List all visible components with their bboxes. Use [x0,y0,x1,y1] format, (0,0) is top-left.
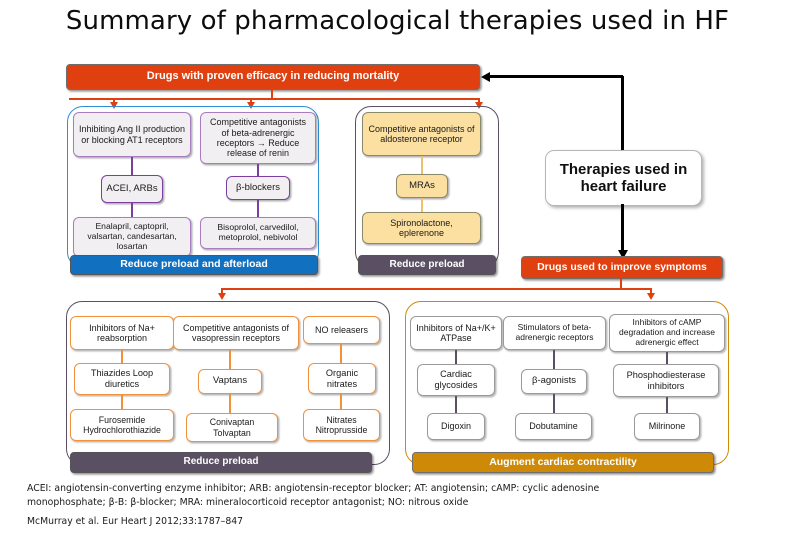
node-mechanism-beta-blockers[interactable]: Competitive antagonists of beta-adrenerg… [200,112,316,164]
node-mechanism-beta-agonists[interactable]: Stimulators of beta-adrenergic receptors [503,316,606,350]
node-drugs-vaptans[interactable]: Conivaptan Tolvaptan [186,413,278,442]
banner-drugs-proven-efficacy[interactable]: Drugs with proven efficacy in reducing m… [66,64,480,90]
node-class-vaptans[interactable]: Vaptans [198,369,262,394]
node-drugs-mra[interactable]: Spironolactone, eplerenone [362,212,481,244]
node-class-ace-arb[interactable]: ACEI, ARBs [101,175,163,203]
connector-diuretics-1 [121,350,123,363]
connector-beta-agonists-1 [553,350,555,369]
connector-diuretics-2 [121,395,123,409]
connector-ace-class-to-drugs [131,203,133,217]
banner-augment-cardiac-contractility[interactable]: Augment cardiac contractility [412,452,714,473]
footnote-abbreviations-line2: monophosphate; β-B: β-blocker; MRA: mine… [27,496,767,509]
connector-pde-1 [666,352,668,364]
node-drugs-beta-blockers[interactable]: Bisoprolol, carvedilol, metoprolol, nebi… [200,217,316,249]
node-class-beta-agonists[interactable]: β-agonists [521,369,587,394]
center-box-therapies[interactable]: Therapies used in heart failure [545,150,702,206]
node-mechanism-no-releasers[interactable]: NO releasers [303,316,380,344]
arrow-symptoms-right [647,293,655,300]
banner-reduce-preload-mra[interactable]: Reduce preload [358,255,496,275]
banner-reduce-preload[interactable]: Reduce preload [70,452,372,473]
connector-pde-2 [666,397,668,413]
arrow-drop-aceiarb [110,102,118,109]
arrow-drop-mra [475,102,483,109]
connector-beta-mech-to-class [257,164,259,176]
node-mechanism-ace-arb[interactable]: Inhibiting Ang II production or blocking… [73,112,191,157]
arrow-to-top-banner [481,72,490,82]
connector-no-2 [340,394,342,409]
connector-no-1 [340,344,342,363]
node-drugs-glycosides[interactable]: Digoxin [427,413,485,440]
connector-glycosides-2 [455,396,457,413]
node-class-no-releasers[interactable]: Organic nitrates [308,363,376,394]
arrow-symptoms-left [218,293,226,300]
node-mechanism-glycosides[interactable]: Inhibitors of Na+/K+ ATPase [410,316,502,350]
connector-symptoms-horizontal [221,288,652,290]
connector-vaptans-1 [229,350,231,369]
banner-drugs-improve-symptoms[interactable]: Drugs used to improve symptoms [521,256,723,279]
connector-center-to-symptoms [621,204,624,252]
connector-beta-agonists-2 [553,394,555,413]
connector-center-to-top-horizontal [490,75,623,78]
node-drugs-beta-agonists[interactable]: Dobutamine [515,413,592,440]
banner-reduce-preload-afterload[interactable]: Reduce preload and afterload [70,255,318,275]
node-drugs-no-releasers[interactable]: Nitrates Nitroprusside [303,409,380,441]
node-mechanism-vaptans[interactable]: Competitive antagonists of vasopressin r… [173,316,299,350]
node-class-mra[interactable]: MRAs [396,174,448,198]
connector-top-horizontal [69,98,480,100]
arrow-drop-beta [247,102,255,109]
diagram-canvas: Summary of pharmacological therapies use… [0,0,795,533]
connector-glycosides-1 [455,350,457,364]
footnote-abbreviations-line1: ACEI: angiotensin-converting enzyme inhi… [27,482,767,495]
page-title: Summary of pharmacological therapies use… [0,6,795,36]
footnote-citation: McMurray et al. Eur Heart J 2012;33:1787… [27,516,767,527]
connector-mra-class-to-drugs [421,198,423,212]
node-class-pde-inhibitors[interactable]: Phosphodiesterase inhibitors [613,364,719,397]
connector-vaptans-2 [229,394,231,413]
node-class-glycosides[interactable]: Cardiac glycosides [417,364,495,396]
node-mechanism-pde-inhibitors[interactable]: Inhibitors of cAMP degradation and incre… [609,314,725,352]
node-drugs-diuretics[interactable]: Furosemide Hydrochlorothiazide [70,409,174,441]
node-class-beta-blockers[interactable]: β-blockers [226,176,290,200]
connector-top-stem [271,88,273,99]
connector-center-to-top-vertical [621,76,624,150]
node-drugs-pde-inhibitors[interactable]: Milrinone [634,413,700,440]
connector-mra-mech-to-class [421,156,423,174]
connector-beta-class-to-drugs [257,200,259,217]
connector-ace-mech-to-class [131,157,133,175]
node-mechanism-mra[interactable]: Competitive antagonists of aldosterone r… [362,112,481,156]
node-mechanism-diuretics[interactable]: Inhibitors of Na+ reabsorption [70,316,174,350]
node-drugs-ace-arb[interactable]: Enalapril, captopril, valsartan, candesa… [73,217,191,257]
node-class-diuretics[interactable]: Thiazides Loop diuretics [74,363,170,395]
